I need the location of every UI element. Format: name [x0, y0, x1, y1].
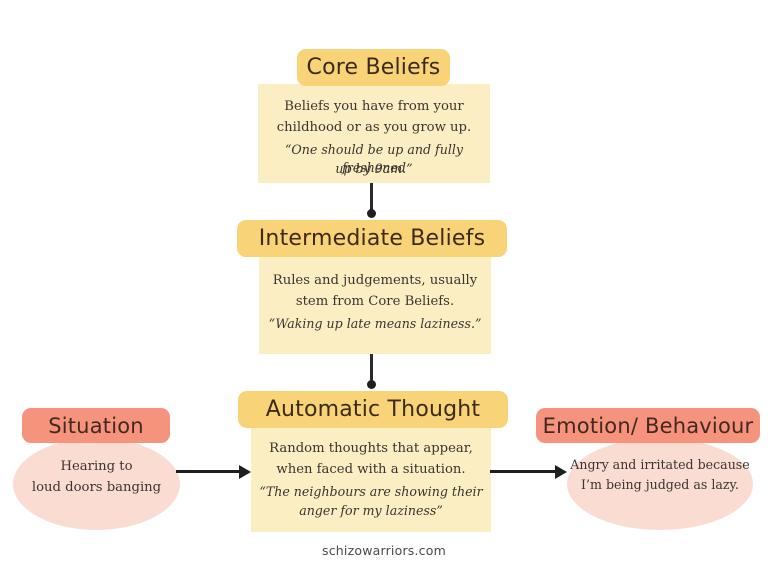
automatic-thought-line1: Random thoughts that appear,	[251, 440, 491, 459]
emotion-behaviour-line1: Angry and irritated because	[563, 456, 757, 474]
automatic-thought-header[interactable]: Automatic Thought	[238, 391, 508, 428]
core-beliefs-line1: Beliefs you have from your	[258, 98, 490, 117]
intermediate-beliefs-panel: Rules and judgements, usually stem from …	[259, 255, 491, 354]
core-beliefs-quote-line2: up by 9am.”	[258, 160, 490, 178]
connector-situation-to-automatic-arrowhead	[239, 465, 251, 479]
emotion-behaviour-text-group: Angry and irritated because I’m being ju…	[563, 438, 757, 530]
core-beliefs-header-label: Core Beliefs	[307, 55, 441, 80]
connector-automatic-to-emotion-arrowhead	[555, 465, 567, 479]
automatic-thought-header-label: Automatic Thought	[266, 397, 481, 422]
situation-line1: Hearing to	[13, 458, 180, 477]
situation-line2: loud doors banging	[13, 479, 180, 498]
connector-intermediate-to-automatic-dot	[367, 380, 376, 389]
automatic-thought-panel: Random thoughts that appear, when faced …	[251, 426, 491, 532]
situation-header[interactable]: Situation	[22, 408, 170, 443]
intermediate-beliefs-line1: Rules and judgements, usually	[259, 272, 491, 291]
intermediate-beliefs-line2: stem from Core Beliefs.	[259, 293, 491, 312]
automatic-thought-quote-line1: “The neighbours are showing their	[251, 483, 491, 501]
intermediate-beliefs-quote-line1: “Waking up late means laziness.”	[259, 315, 491, 333]
connector-situation-to-automatic-line	[176, 470, 240, 473]
core-beliefs-header[interactable]: Core Beliefs	[297, 49, 450, 86]
automatic-thought-line2: when faced with a situation.	[251, 461, 491, 480]
core-beliefs-line2: childhood or as you grow up.	[258, 119, 490, 138]
emotion-behaviour-line2: I’m being judged as lazy.	[563, 476, 757, 494]
connector-automatic-to-emotion-line	[490, 470, 556, 473]
emotion-behaviour-header-label: Emotion/ Behaviour	[543, 414, 754, 438]
footer-attribution: schizowarriors.com	[0, 543, 768, 558]
emotion-behaviour-header[interactable]: Emotion/ Behaviour	[536, 408, 760, 443]
intermediate-beliefs-header-label: Intermediate Beliefs	[259, 226, 486, 251]
diagram-canvas: Beliefs you have from your childhood or …	[0, 0, 768, 576]
situation-header-label: Situation	[48, 414, 144, 438]
automatic-thought-quote-line2: anger for my laziness”	[251, 502, 491, 520]
situation-text-group: Hearing to loud doors banging	[13, 438, 180, 530]
intermediate-beliefs-header[interactable]: Intermediate Beliefs	[237, 220, 507, 257]
connector-core-to-intermediate-dot	[367, 209, 376, 218]
core-beliefs-panel: Beliefs you have from your childhood or …	[258, 84, 490, 183]
